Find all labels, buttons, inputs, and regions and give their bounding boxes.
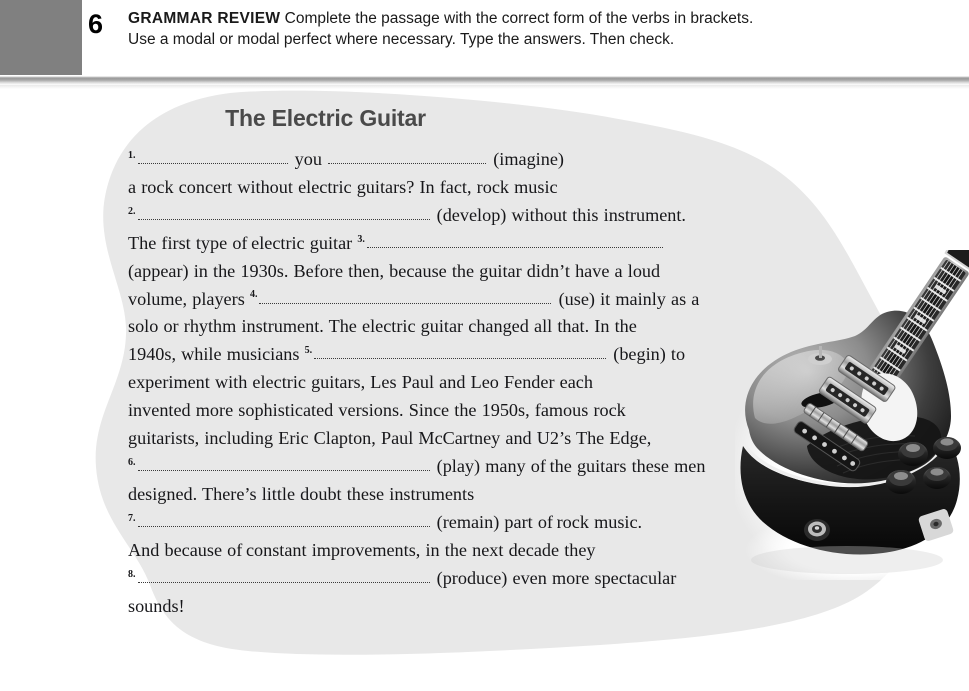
passage-segment-6: (appear) in the 1930s. Before then, beca… xyxy=(128,261,660,281)
passage-title: The Electric Guitar xyxy=(128,105,523,132)
blank-number-5: 5. xyxy=(305,345,313,356)
passage-body: 1. you (imagine) a rock concert without … xyxy=(128,146,728,620)
instruction-text-1: Complete the passage with the correct fo… xyxy=(285,10,754,27)
passage-segment-11: (begin) to xyxy=(613,344,685,364)
blank-number-2: 2. xyxy=(128,206,136,217)
passage-segment-15: (play) many of the guitars these men xyxy=(437,456,706,476)
blank-number-3: 3. xyxy=(357,234,365,245)
answer-blank-1[interactable] xyxy=(138,152,288,164)
passage-segment-14: guitarists, including Eric Clapton, Paul… xyxy=(128,428,651,448)
passage-segment-10: 1940s, while musicians xyxy=(128,344,299,364)
answer-blank-6[interactable] xyxy=(138,459,430,471)
passage-segment-20: sounds! xyxy=(128,596,185,616)
header-gray-block xyxy=(0,0,82,75)
passage-segment-12: experiment with electric guitars, Les Pa… xyxy=(128,372,593,392)
passage-segment-16: designed. There’s little doubt these ins… xyxy=(128,484,474,504)
passage-segment-9: solo or rhythm instrument. The electric … xyxy=(128,316,637,336)
answer-blank-3[interactable] xyxy=(367,236,663,248)
header-text: 6 GRAMMAR REVIEW Complete the passage wi… xyxy=(88,9,948,51)
answer-blank-4[interactable] xyxy=(259,292,551,304)
blank-number-7: 7. xyxy=(128,513,136,524)
guitar-drop-shadow xyxy=(751,546,943,574)
passage-segment-19: (produce) even more spectacular xyxy=(437,568,677,588)
answer-blank-1b[interactable] xyxy=(328,152,486,164)
blank-number-8: 8. xyxy=(128,569,136,580)
passage-segment-18: And because of constant improvements, in… xyxy=(128,540,596,560)
passage-segment-5: The first type of electric guitar xyxy=(128,233,352,253)
exercise-header: 6 GRAMMAR REVIEW Complete the passage wi… xyxy=(0,0,969,76)
instruction-line-1: GRAMMAR REVIEW Complete the passage with… xyxy=(128,9,948,29)
blank-number-4: 4. xyxy=(250,289,258,300)
passage-segment-17: (remain) part of rock music. xyxy=(437,512,642,532)
passage-segment-4: (develop) without this instrument. xyxy=(437,205,686,225)
exercise-type-label: GRAMMAR REVIEW xyxy=(128,10,280,27)
exercise-number: 6 xyxy=(88,11,103,38)
instruction-line-2: Use a modal or modal perfect where neces… xyxy=(128,29,948,51)
passage-segment-1: you xyxy=(295,149,322,169)
header-divider xyxy=(0,76,969,85)
passage-segment-8: (use) it mainly as a xyxy=(559,289,700,309)
answer-blank-7[interactable] xyxy=(138,515,430,527)
answer-blank-2[interactable] xyxy=(138,208,430,220)
passage-segment-13: invented more sophisticated versions. Si… xyxy=(128,400,626,420)
passage-segment-2: (imagine) xyxy=(493,149,564,169)
passage-container: The Electric Guitar 1. you (imagine) a r… xyxy=(128,105,728,620)
guitar-output-jack xyxy=(804,519,830,541)
electric-guitar-image xyxy=(735,250,969,580)
blank-number-6: 6. xyxy=(128,457,136,468)
answer-blank-8[interactable] xyxy=(138,571,430,583)
answer-blank-5[interactable] xyxy=(314,347,606,359)
blank-number-1: 1. xyxy=(128,150,136,161)
passage-segment-7: volume, players xyxy=(128,289,245,309)
passage-segment-3: a rock concert without electric guitars?… xyxy=(128,177,558,197)
